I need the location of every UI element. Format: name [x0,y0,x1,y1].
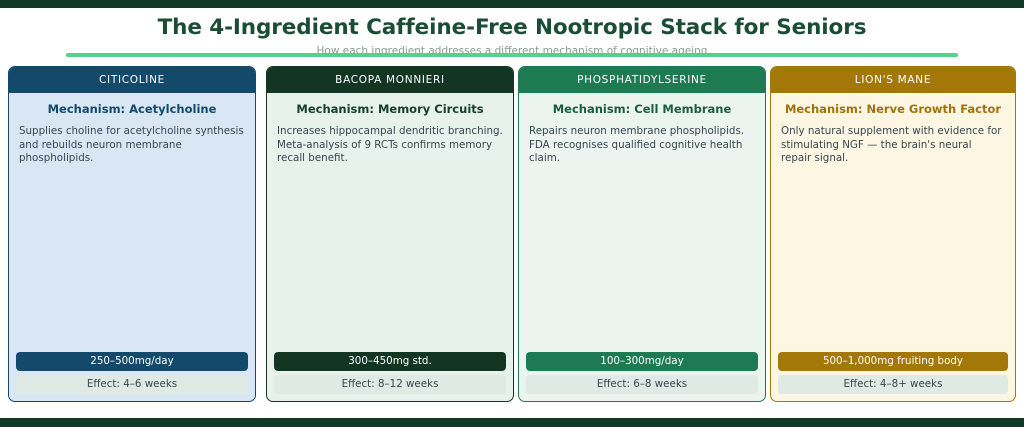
ingredient-card-grid: CITICOLINE Mechanism: Acetylcholine Supp… [0,66,1024,402]
card-effect-onset: Effect: 4–8+ weeks [778,375,1008,394]
ingredient-card-phosphatidylserine[interactable]: PHOSPHATIDYLSERINE Mechanism: Cell Membr… [518,66,766,402]
card-footer: 250–500mg/day Effect: 4–6 weeks [9,352,255,401]
page-title: The 4-Ingredient Caffeine-Free Nootropic… [0,8,1024,40]
card-mechanism-heading: Mechanism: Cell Membrane [529,102,755,116]
card-body: Mechanism: Cell Membrane Repairs neuron … [519,93,765,352]
card-description: Supplies choline for acetylcholine synth… [19,125,245,166]
card-header-title: CITICOLINE [9,67,255,93]
card-dose-badge: 100–300mg/day [526,352,758,371]
card-effect-onset: Effect: 4–6 weeks [16,375,248,394]
card-body: Mechanism: Nerve Growth Factor Only natu… [771,93,1015,352]
card-header-title: PHOSPHATIDYLSERINE [519,67,765,93]
ingredient-card-citicoline[interactable]: CITICOLINE Mechanism: Acetylcholine Supp… [8,66,256,402]
card-header-title: LION'S MANE [771,67,1015,93]
card-header-title: BACOPA MONNIERI [267,67,513,93]
bottom-accent-bar [0,418,1024,427]
header-divider-accent [66,53,958,57]
top-accent-bar [0,0,1024,8]
card-mechanism-heading: Mechanism: Memory Circuits [277,102,503,116]
card-effect-onset: Effect: 8–12 weeks [274,375,506,394]
card-description: Repairs neuron membrane phospholipids. F… [529,125,755,166]
card-description: Increases hippocampal dendritic branchin… [277,125,503,166]
card-footer: 300–450mg std. Effect: 8–12 weeks [267,352,513,401]
card-effect-onset: Effect: 6–8 weeks [526,375,758,394]
card-body: Mechanism: Memory Circuits Increases hip… [267,93,513,352]
ingredient-card-lions-mane[interactable]: LION'S MANE Mechanism: Nerve Growth Fact… [770,66,1016,402]
card-body: Mechanism: Acetylcholine Supplies cholin… [9,93,255,352]
card-footer: 100–300mg/day Effect: 6–8 weeks [519,352,765,401]
card-dose-badge: 300–450mg std. [274,352,506,371]
card-dose-badge: 500–1,000mg fruiting body [778,352,1008,371]
card-footer: 500–1,000mg fruiting body Effect: 4–8+ w… [771,352,1015,401]
card-mechanism-heading: Mechanism: Nerve Growth Factor [781,102,1005,116]
card-dose-badge: 250–500mg/day [16,352,248,371]
card-description: Only natural supplement with evidence fo… [781,125,1005,166]
card-mechanism-heading: Mechanism: Acetylcholine [19,102,245,116]
ingredient-card-bacopa-monnieri[interactable]: BACOPA MONNIERI Mechanism: Memory Circui… [266,66,514,402]
